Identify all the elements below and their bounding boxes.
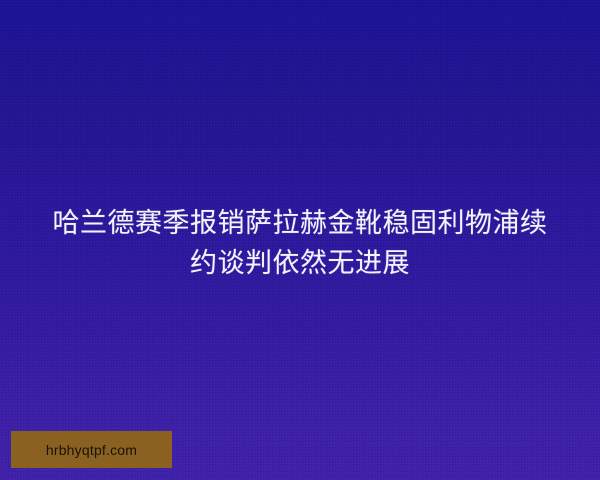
image-canvas: 哈兰德赛季报销萨拉赫金靴稳固利物浦续 约谈判依然无进展 hrbhyqtpf.co… [0, 0, 600, 480]
headline-text: 哈兰德赛季报销萨拉赫金靴稳固利物浦续 约谈判依然无进展 [0, 203, 600, 283]
watermark-badge: hrbhyqtpf.com [11, 431, 172, 468]
watermark-domain-label: hrbhyqtpf.com [46, 443, 137, 457]
